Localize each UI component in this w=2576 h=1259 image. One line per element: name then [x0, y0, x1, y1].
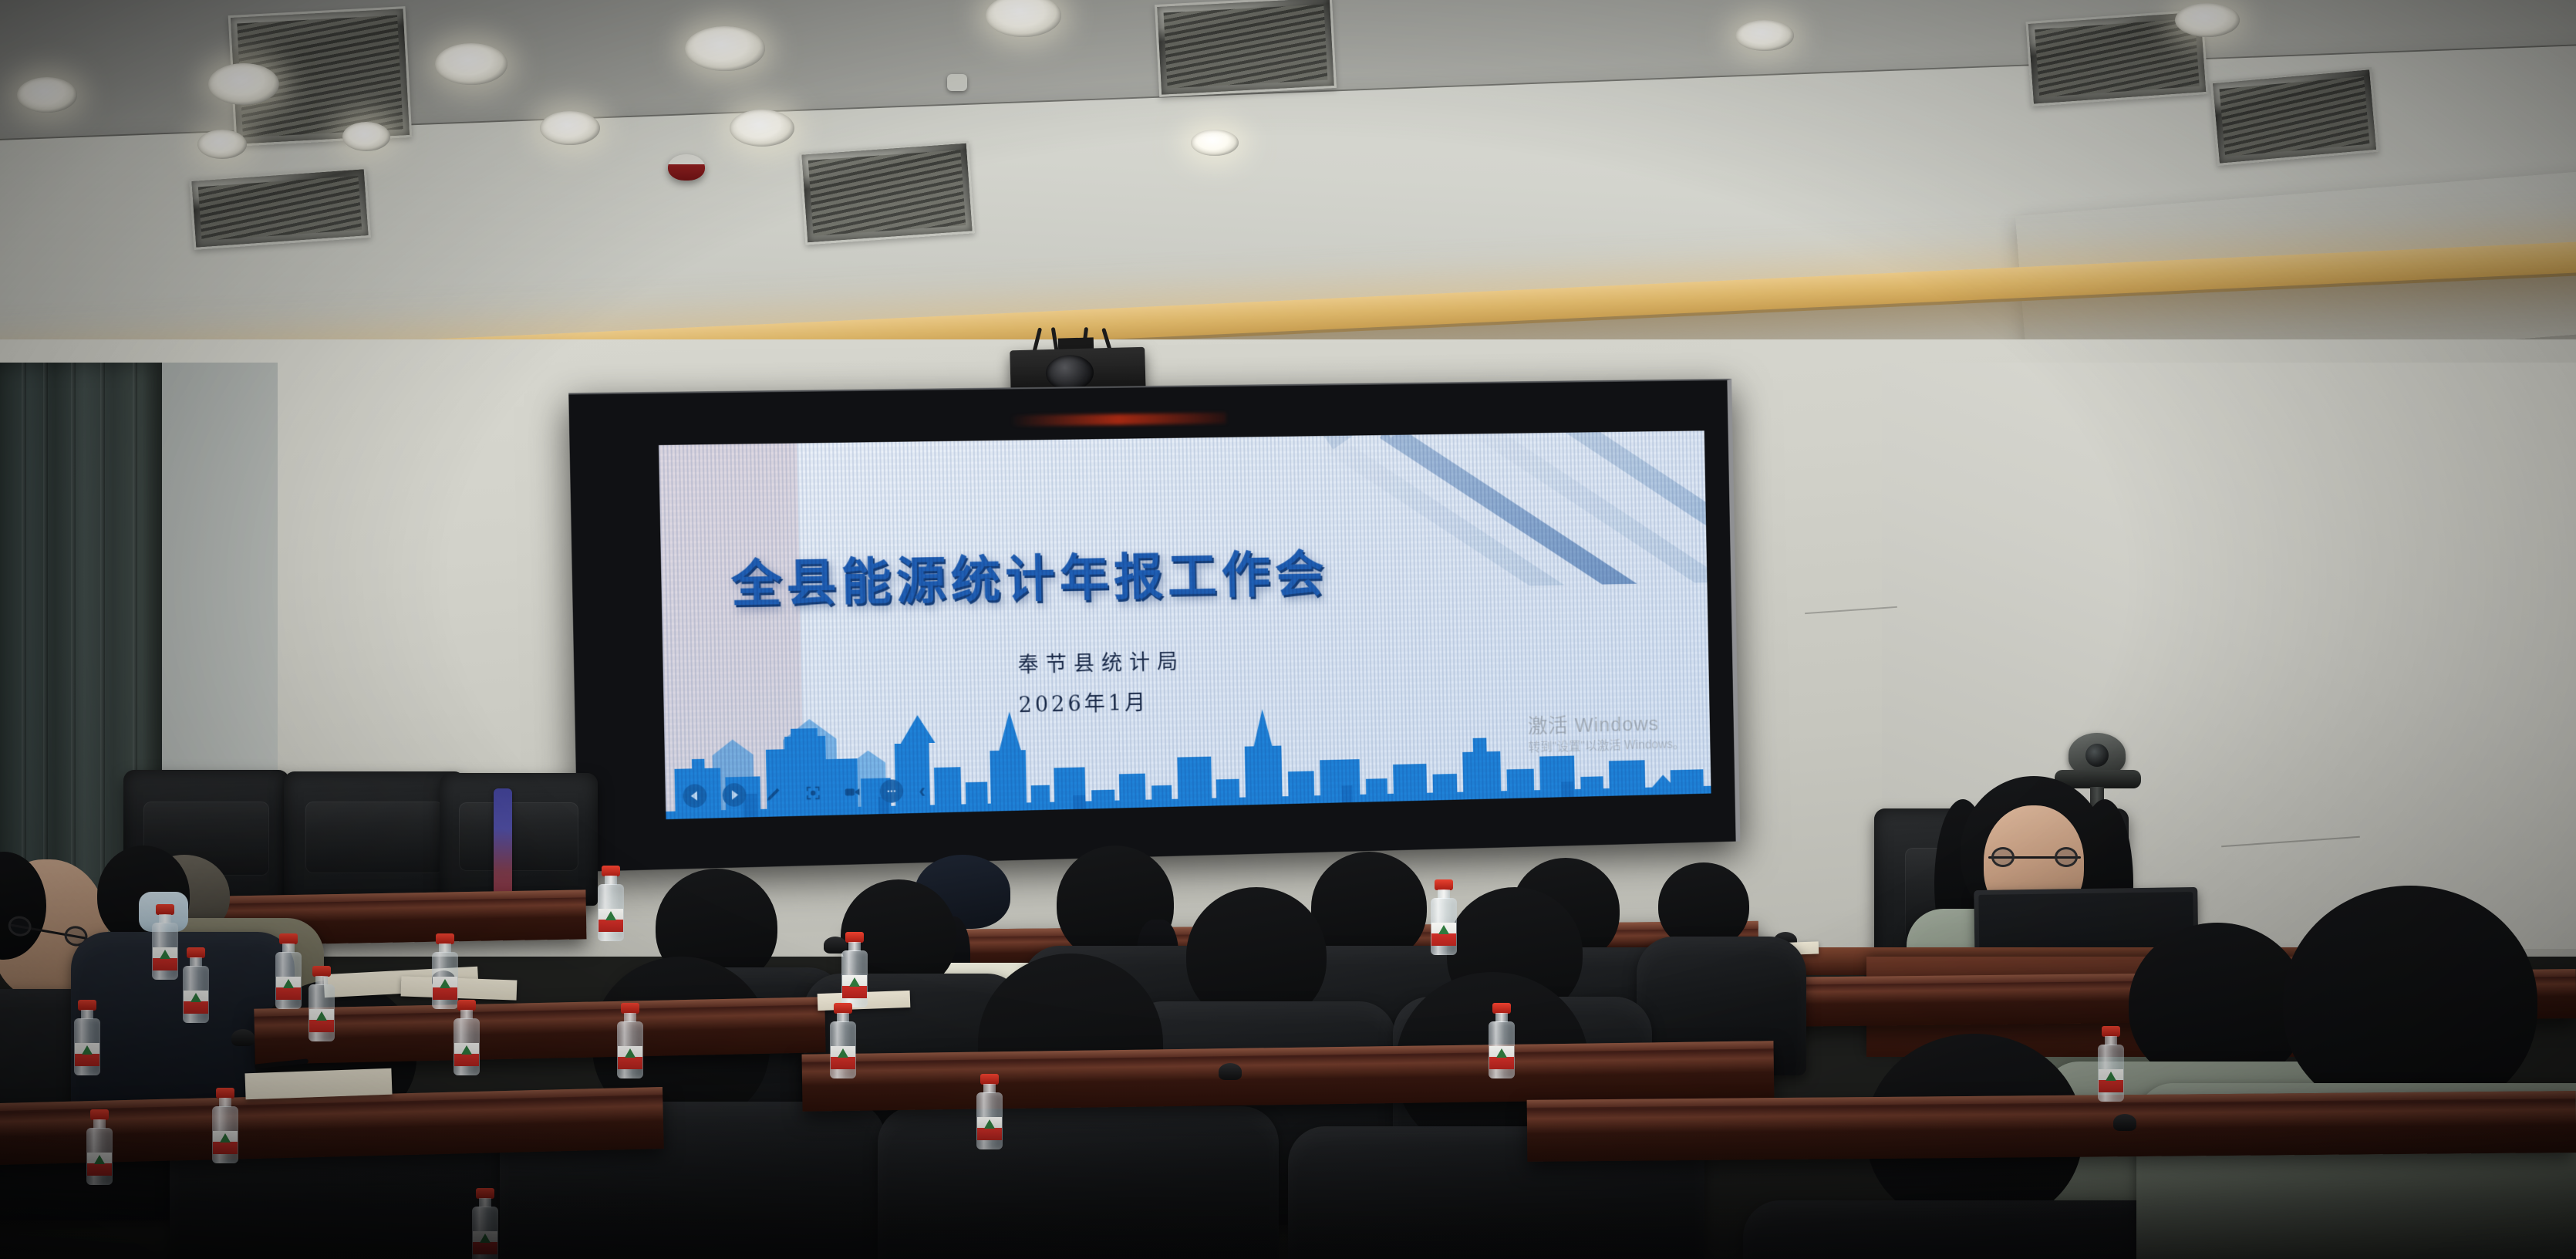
ptz-camera-lens-icon: [2085, 744, 2109, 767]
ceiling-downlight: [435, 43, 507, 85]
desk-microphone-icon: [2113, 1114, 2136, 1131]
ceiling-vent: [799, 140, 975, 245]
slide-chevron-decoration: [1312, 430, 1711, 589]
camera-tool-icon[interactable]: [841, 780, 865, 804]
ceiling-vent: [2210, 67, 2379, 166]
ceiling-downlight: [208, 63, 279, 105]
pen-tool-icon[interactable]: [762, 782, 786, 806]
slide-canvas[interactable]: 全县能源统计年报工作会 奉节县统计局 2026年1月 激活 Windows 转到…: [659, 430, 1711, 819]
presenter-glasses-icon: [1988, 856, 2081, 859]
next-slide-button[interactable]: [722, 783, 746, 807]
collapse-toolbar-icon[interactable]: ‹: [919, 780, 926, 800]
desk-notebook: [244, 1068, 392, 1100]
smoke-detector-icon: [668, 154, 705, 181]
ceiling-sensor-icon: [947, 74, 967, 91]
ceiling-downlight: [540, 111, 600, 145]
projector-lens-icon: [1045, 354, 1094, 391]
ceiling-downlight: [1191, 130, 1239, 156]
desk-microphone-icon: [1219, 1063, 1242, 1080]
previous-slide-button[interactable]: [683, 784, 706, 808]
ceiling-downlight: [1735, 20, 1794, 51]
ceiling-downlight: [342, 122, 390, 151]
chair-strap: [494, 788, 512, 904]
more-options-button[interactable]: [879, 779, 903, 803]
ceiling-vent: [1155, 0, 1337, 97]
conference-room-scene: 全县能源统计年报工作会 奉节县统计局 2026年1月 激活 Windows 转到…: [0, 0, 2576, 1259]
presentation-screen[interactable]: 全县能源统计年报工作会 奉节县统计局 2026年1月 激活 Windows 转到…: [568, 379, 1740, 872]
zoom-slide-icon[interactable]: [801, 781, 825, 805]
ceiling-downlight: [197, 130, 247, 159]
audience-chair: [440, 773, 598, 906]
ceiling-downlight: [17, 77, 77, 113]
ceiling-vent: [189, 167, 371, 250]
desk-notebook: [401, 976, 518, 1000]
ceiling-downlight: [685, 26, 765, 71]
audience-desk-row: [1527, 1091, 2576, 1162]
screen-status-led: [1010, 413, 1226, 427]
slide-title: 全县能源统计年报工作会: [730, 534, 1329, 616]
ceiling-downlight: [730, 110, 794, 147]
ceiling-downlight: [2175, 3, 2240, 37]
audience-chair: [284, 771, 465, 909]
desk-microphone-icon: [231, 1029, 255, 1046]
slide-subtitle: 奉节县统计局: [1017, 644, 1185, 677]
